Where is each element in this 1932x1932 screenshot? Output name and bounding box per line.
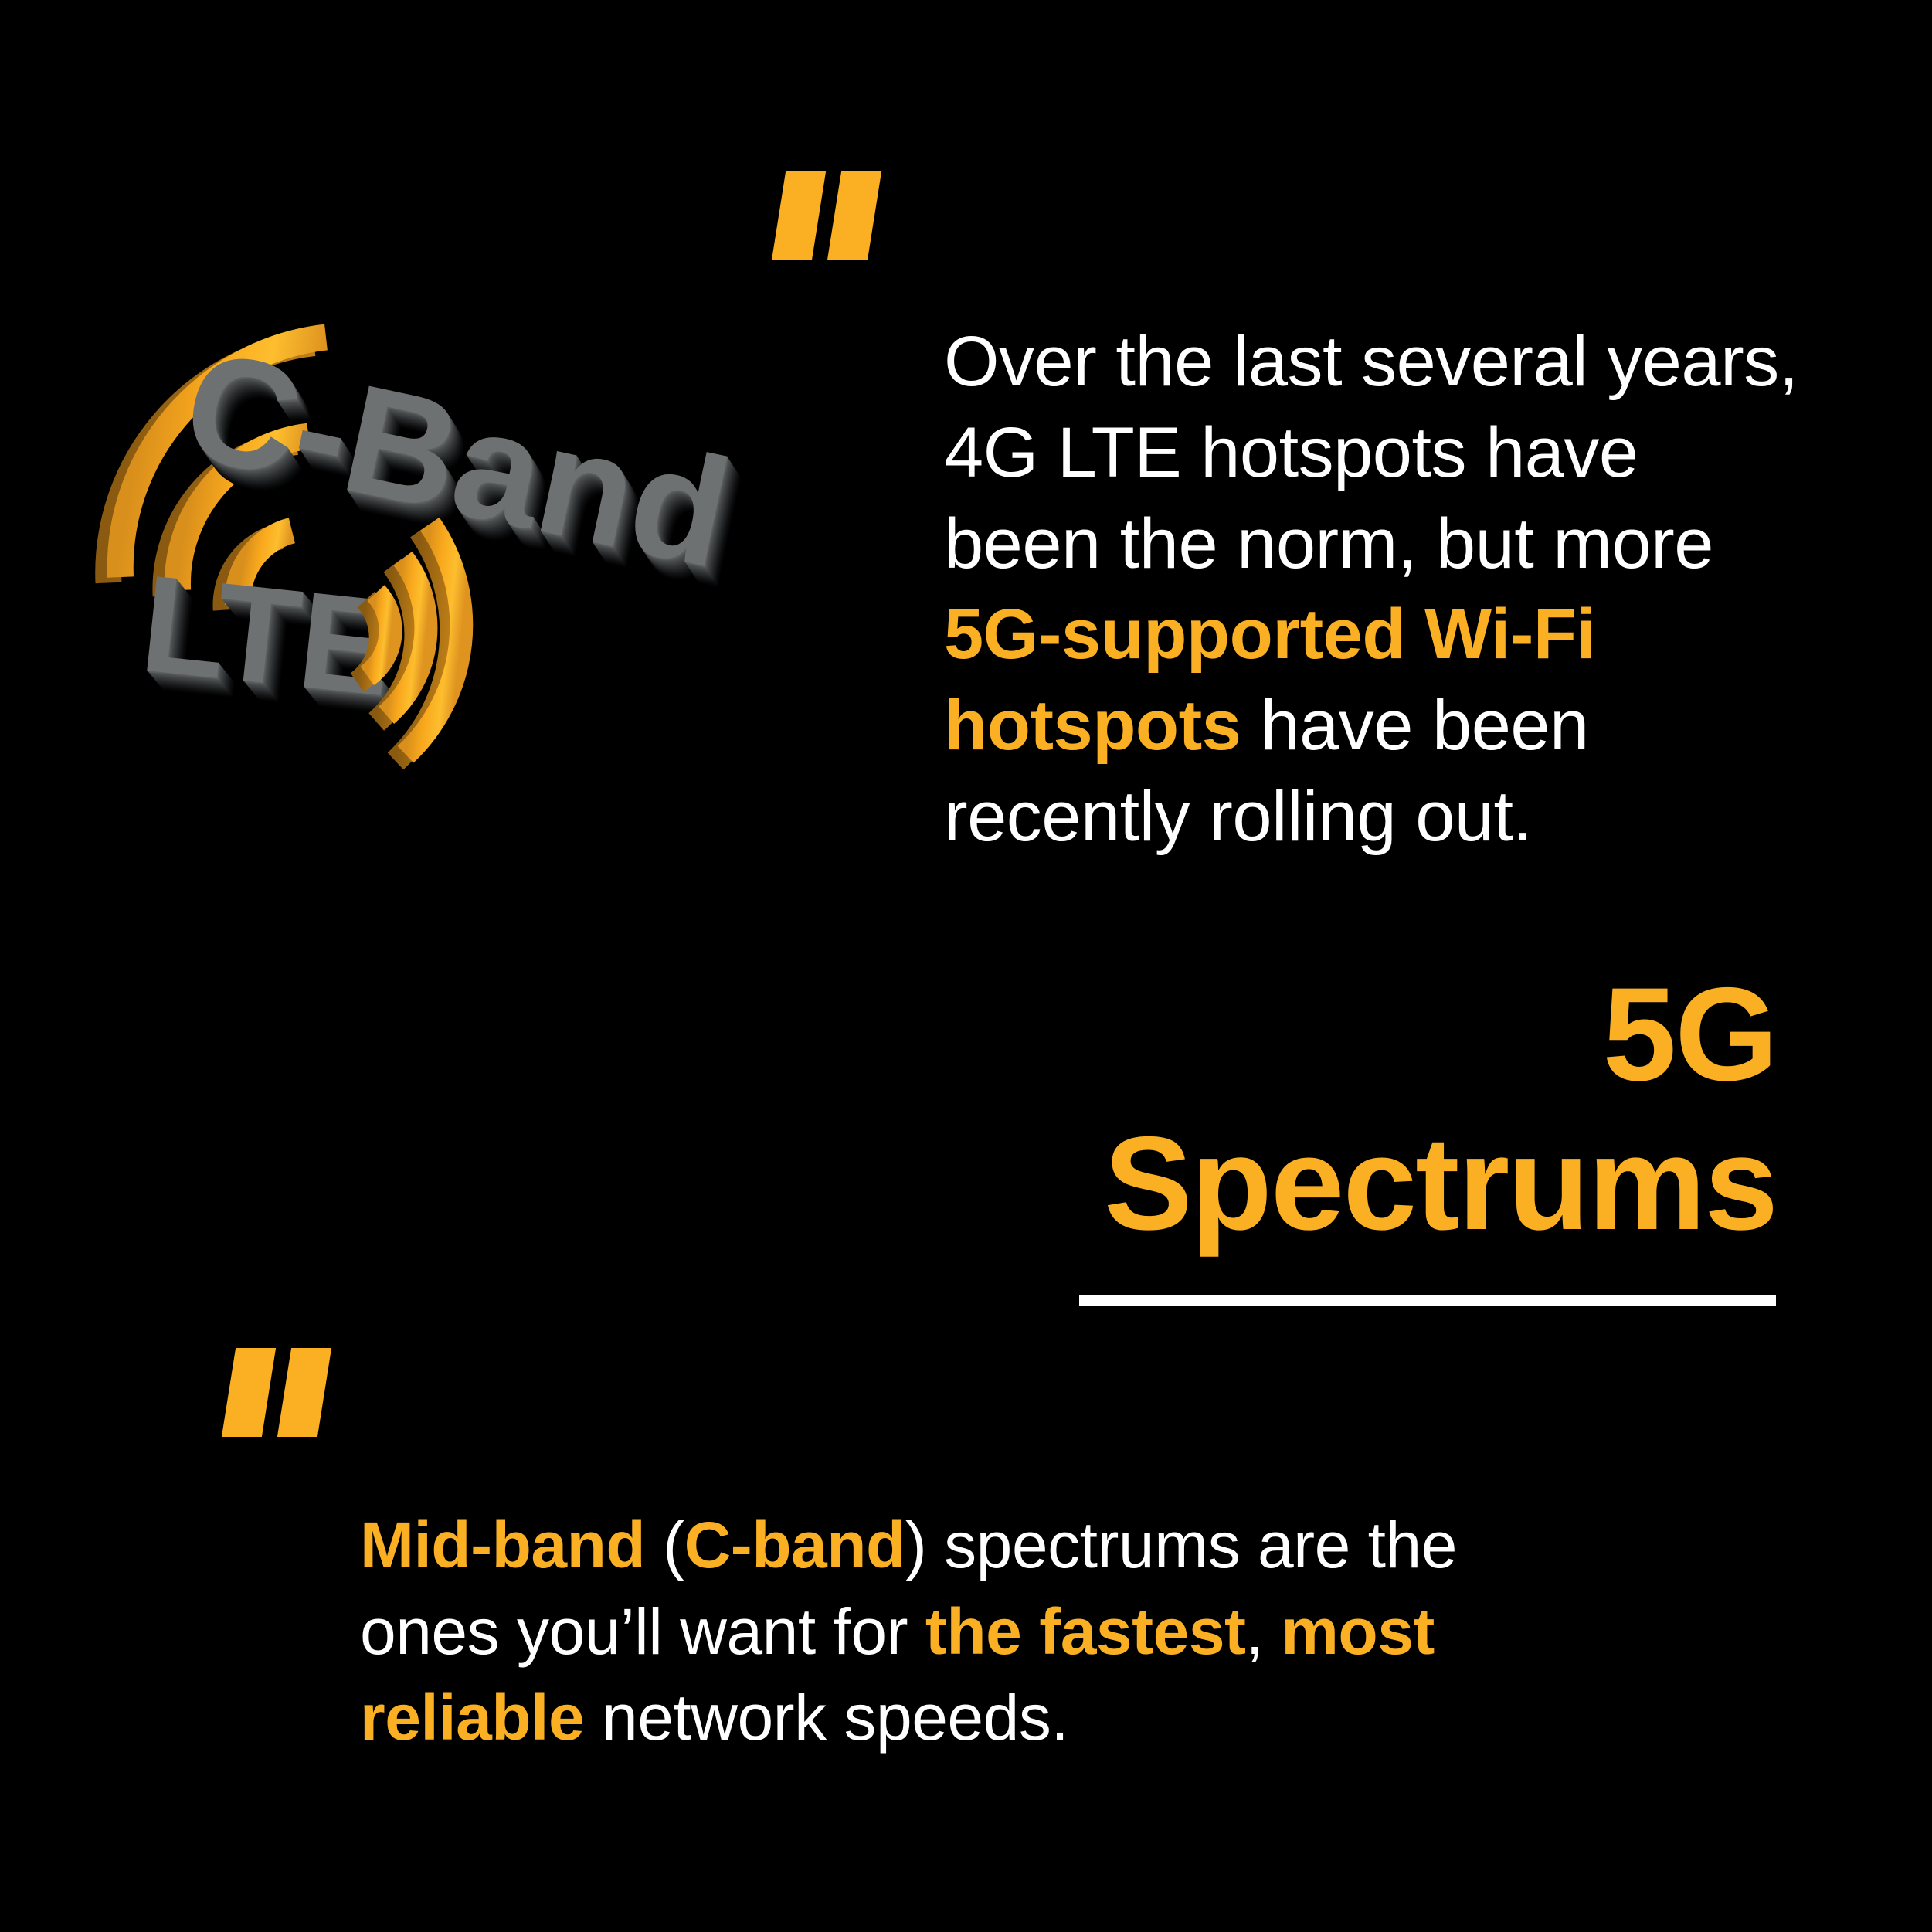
quote-mark-stroke-right — [277, 1348, 331, 1437]
bottom-paragraph-seg-4-highlight: the fastest — [925, 1595, 1246, 1668]
bottom-paragraph-seg-7: network speeds. — [584, 1681, 1068, 1754]
heading-block: 5G Spectrums — [912, 969, 1777, 1248]
bottom-paragraph: Mid-band (C-band) spectrums are the ones… — [360, 1502, 1565, 1761]
bottom-paragraph-seg-2-highlight: C-band — [684, 1509, 905, 1581]
lte-signal-arcs-icon — [331, 470, 688, 827]
poster-canvas: Over the last several years, 4G LTE hots… — [0, 0, 1932, 1932]
bottom-paragraph-seg-1: ( — [645, 1509, 684, 1581]
heading-underline-rule — [1079, 1295, 1776, 1306]
bottom-paragraph-seg-5: , — [1246, 1595, 1282, 1668]
quote-mark-stroke-left — [222, 1348, 276, 1437]
quote-mark-top-icon — [779, 171, 879, 260]
quote-mark-bottom-icon — [229, 1348, 329, 1437]
heading-line-spectrums: Spectrums — [912, 1119, 1777, 1249]
bottom-paragraph-seg-0-highlight: Mid-band — [360, 1509, 645, 1581]
quote-mark-stroke-left — [772, 171, 826, 260]
top-paragraph: Over the last several years, 4G LTE hots… — [944, 317, 1801, 863]
heading-line-5g: 5G — [912, 969, 1777, 1100]
quote-mark-stroke-right — [827, 171, 881, 260]
cband-lte-artwork: C-Band LTE — [0, 324, 865, 1143]
top-paragraph-seg-0: Over the last several years, 4G LTE hots… — [944, 322, 1798, 583]
